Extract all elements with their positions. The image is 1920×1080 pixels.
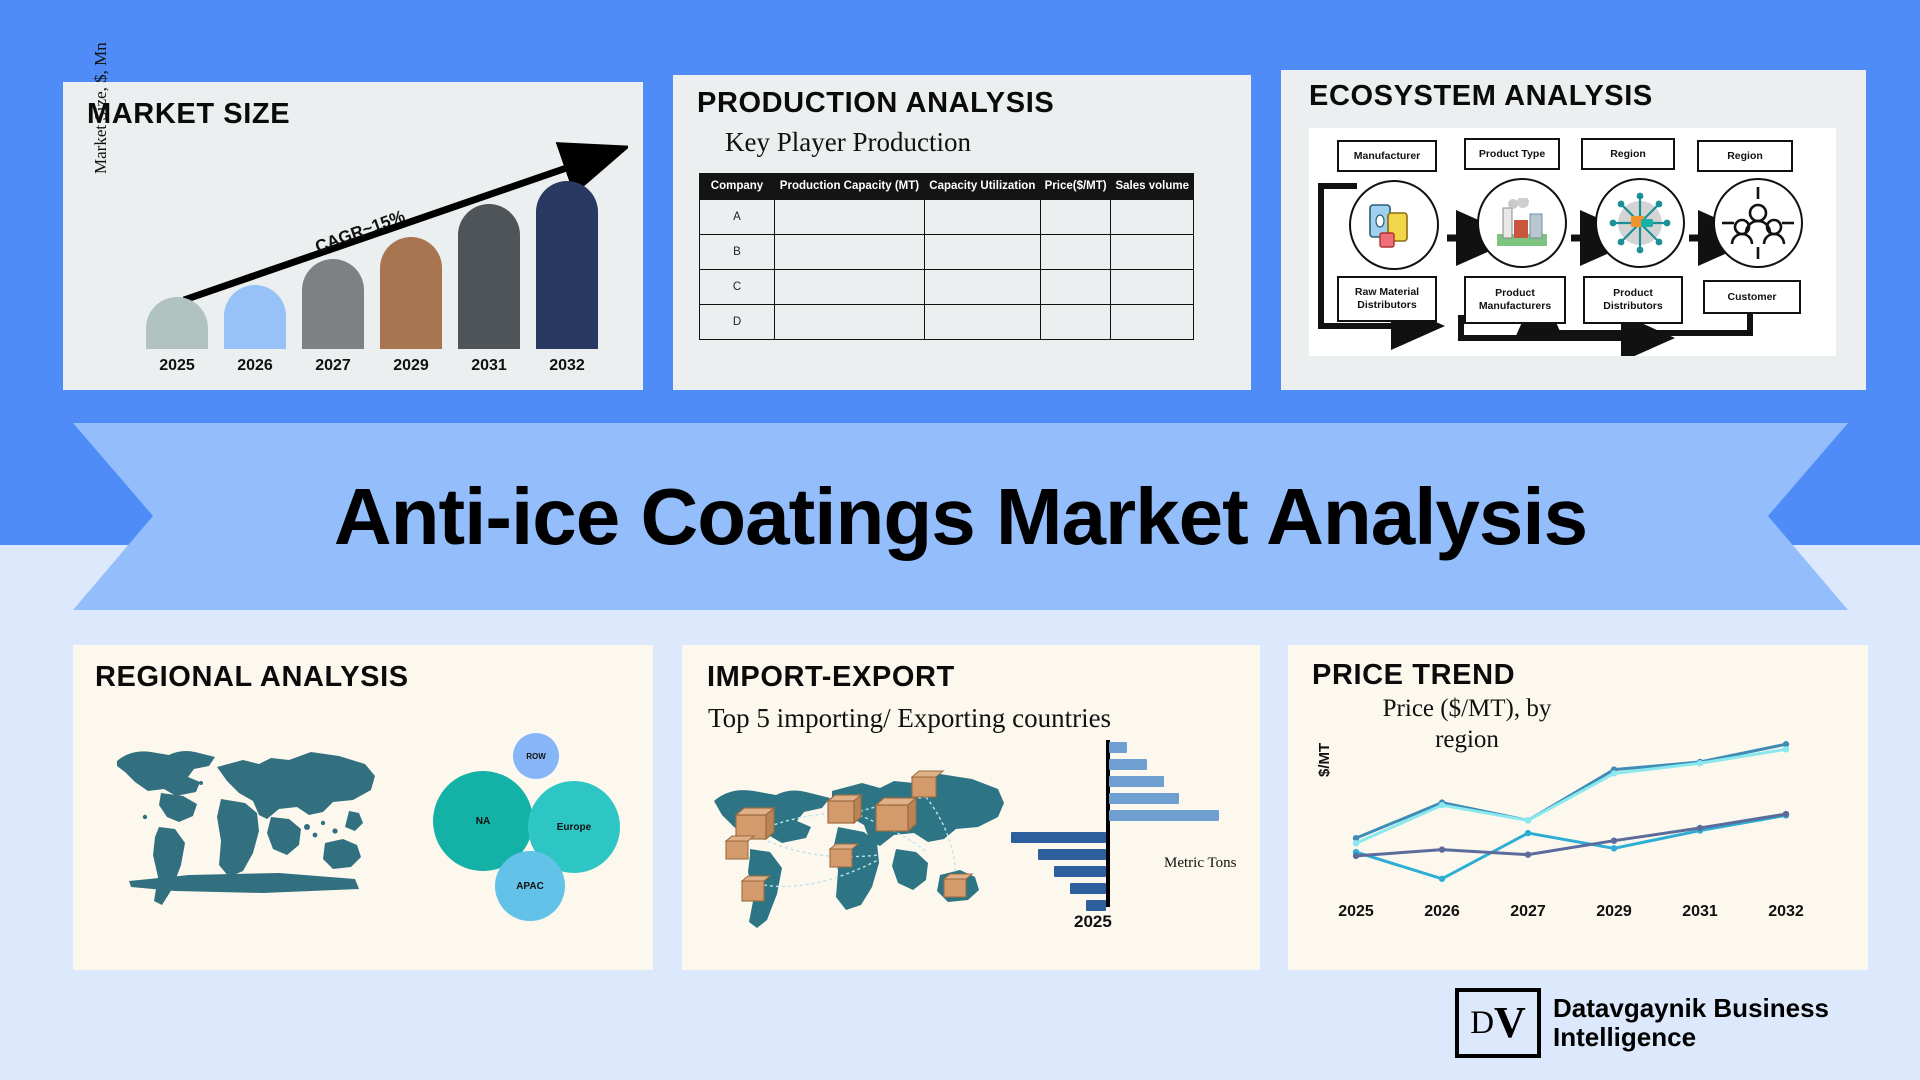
logo-text: Datavgaynik Business Intelligence (1553, 994, 1829, 1052)
market-size-title: MARKET SIZE (87, 98, 290, 131)
eco-box-region-1: Region (1581, 138, 1675, 170)
import-bar (1109, 742, 1127, 753)
import-bar (1109, 793, 1179, 804)
table-cell (924, 269, 1040, 304)
table-column-header: Production Capacity (MT) (775, 174, 925, 200)
market-size-year-label: 2025 (146, 357, 208, 375)
import-bar (1109, 810, 1219, 821)
price-point (1697, 760, 1703, 766)
company-logo: DV Datavgaynik Business Intelligence (1455, 988, 1829, 1058)
table-cell-company: A (700, 199, 775, 234)
market-size-bar (458, 204, 520, 349)
eco-box-product-distributors: Product Distributors (1583, 276, 1683, 324)
table-cell (775, 199, 925, 234)
market-size-year-label: 2029 (380, 357, 442, 375)
price-trend-year-label: 2031 (1666, 903, 1734, 921)
table-column-header: Sales volume (1111, 174, 1194, 200)
price-point (1439, 802, 1445, 808)
table-column-header: Capacity Utilization (924, 174, 1040, 200)
logo-letter-v: V (1494, 1001, 1526, 1045)
logo-line-1: Datavgaynik Business (1553, 994, 1829, 1023)
table-cell (775, 304, 925, 339)
regional-analysis-card: REGIONAL ANALYSIS NAEuropeAPACROW (73, 645, 653, 970)
table-row: B (700, 234, 1194, 269)
table-body: ABCD (700, 199, 1194, 339)
export-bar (1070, 883, 1106, 894)
eco-box-product-type: Product Type (1464, 138, 1560, 170)
price-point (1525, 830, 1531, 836)
region-bubble-apac: APAC (495, 851, 565, 921)
price-point (1525, 817, 1531, 823)
table-cell-company: C (700, 269, 775, 304)
market-size-bar (380, 237, 442, 349)
price-point (1353, 853, 1359, 859)
eco-box-product-manufacturers: Product Manufacturers (1464, 276, 1566, 324)
import-bar (1109, 776, 1164, 787)
price-line-series-4 (1356, 814, 1786, 856)
production-analysis-title: PRODUCTION ANALYSIS (697, 87, 1054, 120)
price-trend-card: PRICE TREND Price ($/MT), by region $/MT… (1288, 645, 1868, 970)
eco-box-raw-material-distributors: Raw Material Distributors (1337, 276, 1437, 322)
world-map-icon (99, 723, 389, 908)
ecosystem-analysis-title: ECOSYSTEM ANALYSIS (1309, 80, 1653, 113)
table-cell-company: D (700, 304, 775, 339)
export-bar (1054, 866, 1106, 877)
table-cell (1040, 269, 1111, 304)
export-bar (1038, 849, 1106, 860)
price-point (1611, 845, 1617, 851)
table-cell (924, 199, 1040, 234)
price-point (1439, 846, 1445, 852)
price-trend-year-label: 2027 (1494, 903, 1562, 921)
region-bubble-row: ROW (513, 733, 559, 779)
logo-letter-d: D (1470, 1007, 1494, 1040)
market-size-bar (302, 259, 364, 349)
import-export-title: IMPORT-EXPORT (707, 661, 955, 694)
ecosystem-analysis-card: ECOSYSTEM ANALYSIS Manufacturer Product … (1281, 70, 1866, 390)
table-cell (924, 304, 1040, 339)
import-export-butterfly-chart: 2025 Metric Tons (1026, 740, 1226, 925)
price-point (1439, 876, 1445, 882)
price-trend-x-axis: 202520262027202920312032 (1336, 903, 1836, 927)
table-cell (1040, 199, 1111, 234)
price-point (1611, 770, 1617, 776)
market-size-plot: CAGR~15% 202520262027202920312032 (138, 142, 628, 377)
ecosystem-diagram: Manufacturer Product Type Region Region (1309, 128, 1836, 356)
price-trend-y-axis-label: $/MT (1316, 743, 1333, 777)
price-trend-year-label: 2032 (1752, 903, 1820, 921)
title-ribbon: Anti-ice Coatings Market Analysis (73, 423, 1848, 610)
table-row: C (700, 269, 1194, 304)
import-bar (1109, 759, 1147, 770)
barrels-icon (1349, 180, 1439, 270)
price-trend-year-label: 2026 (1408, 903, 1476, 921)
trade-routes-map-icon (704, 753, 1004, 933)
customers-target-icon (1713, 178, 1803, 268)
market-size-year-label: 2032 (536, 357, 598, 375)
logo-line-2: Intelligence (1553, 1023, 1829, 1052)
market-size-bar (536, 181, 598, 349)
key-player-production-table: CompanyProduction Capacity (MT)Capacity … (699, 173, 1194, 340)
market-size-bar (146, 297, 208, 349)
price-line-series-2 (1356, 749, 1786, 843)
table-cell (775, 234, 925, 269)
table-cell (1111, 269, 1194, 304)
distribution-network-icon (1595, 178, 1685, 268)
market-size-y-axis-label: Market Size, $, Mn (91, 42, 111, 174)
table-cell (924, 234, 1040, 269)
table-row: D (700, 304, 1194, 339)
import-export-subtitle: Top 5 importing/ Exporting countries (708, 703, 1111, 734)
market-size-year-label: 2027 (302, 357, 364, 375)
market-size-card: MARKET SIZE Market Size, $, Mn CAGR~15% … (63, 82, 643, 390)
price-point (1525, 851, 1531, 857)
table-column-header: Company (700, 174, 775, 200)
import-export-card: IMPORT-EXPORT Top 5 importing/ Exporting… (682, 645, 1260, 970)
price-point (1783, 811, 1789, 817)
eco-box-region-2: Region (1697, 140, 1793, 172)
price-point (1611, 837, 1617, 843)
market-size-year-label: 2031 (458, 357, 520, 375)
table-header-row: CompanyProduction Capacity (MT)Capacity … (700, 174, 1194, 200)
export-bar (1086, 900, 1106, 911)
regional-analysis-title: REGIONAL ANALYSIS (95, 661, 409, 694)
market-size-year-label: 2026 (224, 357, 286, 375)
table-column-header: Price($/MT) (1040, 174, 1111, 200)
price-trend-year-label: 2025 (1322, 903, 1390, 921)
eco-box-customer: Customer (1703, 280, 1801, 314)
table-cell (775, 269, 925, 304)
price-trend-year-label: 2029 (1580, 903, 1648, 921)
market-size-bar (224, 285, 286, 349)
table-cell (1111, 199, 1194, 234)
butterfly-year-label: 2025 (1074, 912, 1112, 932)
export-bar (1011, 832, 1106, 843)
logo-mark-dv: DV (1455, 988, 1541, 1058)
price-point (1353, 840, 1359, 846)
price-point (1697, 825, 1703, 831)
regional-bubble-chart: NAEuropeAPACROW (433, 723, 623, 923)
butterfly-unit-label: Metric Tons (1164, 855, 1236, 872)
table-cell (1111, 304, 1194, 339)
table-cell (1040, 234, 1111, 269)
production-analysis-subtitle: Key Player Production (725, 127, 971, 158)
price-trend-line-chart (1336, 715, 1836, 900)
price-point (1783, 746, 1789, 752)
price-trend-title: PRICE TREND (1312, 659, 1515, 692)
eco-box-manufacturer: Manufacturer (1337, 140, 1437, 172)
table-cell-company: B (700, 234, 775, 269)
factory-icon (1477, 178, 1567, 268)
table-row: A (700, 199, 1194, 234)
table-cell (1040, 304, 1111, 339)
production-analysis-card: PRODUCTION ANALYSIS Key Player Productio… (673, 75, 1251, 390)
page-title: Anti-ice Coatings Market Analysis (334, 471, 1587, 563)
table-cell (1111, 234, 1194, 269)
